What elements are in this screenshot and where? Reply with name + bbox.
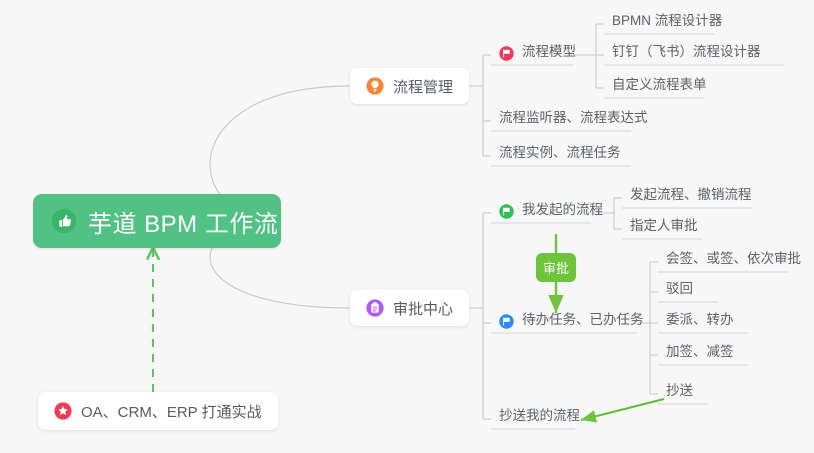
node-cc[interactable]: 抄送 <box>658 382 701 404</box>
star-icon <box>54 402 72 420</box>
node-label: 会签、或签、依次审批 <box>666 250 801 268</box>
approval-badge: 审批 <box>536 253 576 282</box>
node-label: 自定义流程表单 <box>612 76 707 94</box>
mindmap-canvas: 芋道 BPM 工作流 流程管理 流程模型 BPMN 流程设计器 钉钉（飞书）流程 <box>0 0 814 453</box>
branch-label: 审批中心 <box>393 298 453 319</box>
node-label: 抄送我的流程 <box>499 407 580 425</box>
integration-node[interactable]: OA、CRM、ERP 打通实战 <box>38 392 278 430</box>
node-todo-done-tasks[interactable]: 待办任务、已办任务 <box>491 311 652 333</box>
node-reject[interactable]: 驳回 <box>658 280 701 302</box>
node-label: 驳回 <box>666 280 693 298</box>
node-cc-to-me[interactable]: 抄送我的流程 <box>491 407 588 429</box>
node-label: 流程模型 <box>522 43 576 61</box>
node-my-initiated-process[interactable]: 我发起的流程 <box>491 201 611 223</box>
node-listener-expression[interactable]: 流程监听器、流程表达式 <box>491 109 656 131</box>
node-process-model[interactable]: 流程模型 <box>491 43 584 65</box>
node-label: BPMN 流程设计器 <box>612 12 722 30</box>
flag-icon-blue <box>499 314 514 329</box>
node-label: 流程实例、流程任务 <box>499 144 621 162</box>
approval-badge-label: 审批 <box>543 258 569 277</box>
branch-process-management[interactable]: 流程管理 <box>350 68 469 104</box>
node-delegate-transfer[interactable]: 委派、转办 <box>658 311 742 333</box>
node-bpmn-designer[interactable]: BPMN 流程设计器 <box>604 12 730 34</box>
lightbulb-icon <box>366 77 384 95</box>
node-dingtalk-designer[interactable]: 钉钉（飞书）流程设计器 <box>604 43 769 65</box>
node-instance-task[interactable]: 流程实例、流程任务 <box>491 144 629 166</box>
node-label: 我发起的流程 <box>522 201 603 219</box>
clipboard-icon <box>366 299 384 317</box>
node-custom-form[interactable]: 自定义流程表单 <box>604 76 715 98</box>
node-label: 指定人审批 <box>630 217 698 235</box>
flag-icon-green <box>499 204 514 219</box>
node-start-cancel-process[interactable]: 发起流程、撤销流程 <box>622 186 760 208</box>
node-label: 钉钉（飞书）流程设计器 <box>612 43 761 61</box>
root-label: 芋道 BPM 工作流 <box>88 204 278 239</box>
flag-icon-red <box>499 46 514 61</box>
root-node[interactable]: 芋道 BPM 工作流 <box>33 194 281 248</box>
thumbs-up-icon <box>51 208 77 234</box>
integration-node-label: OA、CRM、ERP 打通实战 <box>81 401 262 422</box>
node-label: 委派、转办 <box>666 311 734 329</box>
node-label: 待办任务、已办任务 <box>522 311 644 329</box>
node-label: 加签、减签 <box>666 343 734 361</box>
node-label: 抄送 <box>666 382 693 400</box>
branch-label: 流程管理 <box>393 76 453 97</box>
node-countersign[interactable]: 会签、或签、依次审批 <box>658 250 809 272</box>
node-label: 流程监听器、流程表达式 <box>499 109 648 127</box>
node-add-remove-sign[interactable]: 加签、减签 <box>658 343 742 365</box>
node-assignee-approval[interactable]: 指定人审批 <box>622 217 706 239</box>
branch-approval-center[interactable]: 审批中心 <box>350 290 469 326</box>
node-label: 发起流程、撤销流程 <box>630 186 752 204</box>
